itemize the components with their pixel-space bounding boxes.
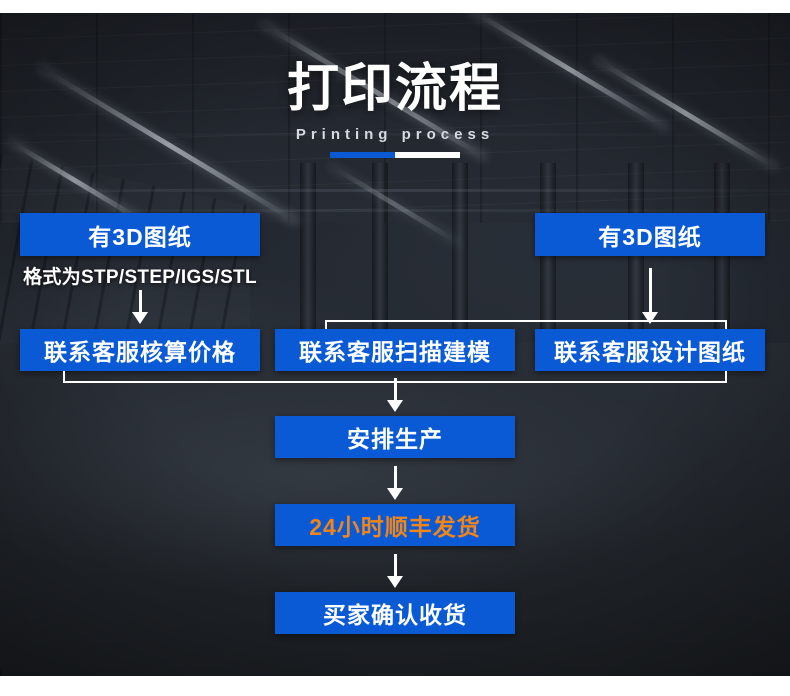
arrow-down-to-production [386, 378, 404, 412]
arrow-shaft [649, 268, 652, 312]
flow-box-arrange-production[interactable]: 安排生产 [275, 416, 515, 458]
arrow-head [387, 488, 403, 500]
bottom-white-border [0, 676, 790, 696]
page-subtitle: Printing process [0, 126, 790, 143]
bracket-horizontal [325, 320, 727, 322]
arrow-shaft [394, 554, 397, 576]
arrow-down-to-receipt [386, 554, 404, 588]
arrow-down-to-shipping [386, 466, 404, 500]
arrow-head [132, 312, 148, 324]
top-white-border [0, 0, 790, 13]
format-note: 格式为STP/STEP/IGS/STL [20, 262, 260, 289]
title-divider [330, 152, 460, 158]
arrow-head [387, 576, 403, 588]
flow-box-contact-service-design-drawing[interactable]: 联系客服设计图纸 [535, 329, 765, 371]
flow-box-24h-sf-shipping[interactable]: 24小时顺丰发货 [275, 504, 515, 546]
flow-box-has-3d-drawing-left[interactable]: 有3D图纸 [20, 213, 260, 256]
flow-box-contact-service-quote[interactable]: 联系客服核算价格 [20, 329, 260, 371]
arrow-shaft [139, 290, 142, 312]
arrow-down-left [131, 290, 149, 324]
arrow-shaft [394, 466, 397, 488]
arrow-down-right [641, 268, 659, 324]
flow-box-buyer-confirm-receipt[interactable]: 买家确认收货 [275, 592, 515, 634]
page-heading: 打印流程 Printing process [0, 60, 790, 143]
printing-process-infographic: 打印流程 Printing process 有3D图纸 有3D图纸 格式为STP… [0, 0, 790, 696]
divider-white-segment [395, 152, 460, 158]
divider-blue-segment [330, 152, 395, 158]
flow-box-has-3d-drawing-right[interactable]: 有3D图纸 [535, 213, 765, 256]
flow-box-contact-service-scan-model[interactable]: 联系客服扫描建模 [275, 329, 515, 371]
arrow-head [387, 400, 403, 412]
page-title: 打印流程 [0, 60, 790, 118]
arrow-shaft [394, 378, 397, 400]
